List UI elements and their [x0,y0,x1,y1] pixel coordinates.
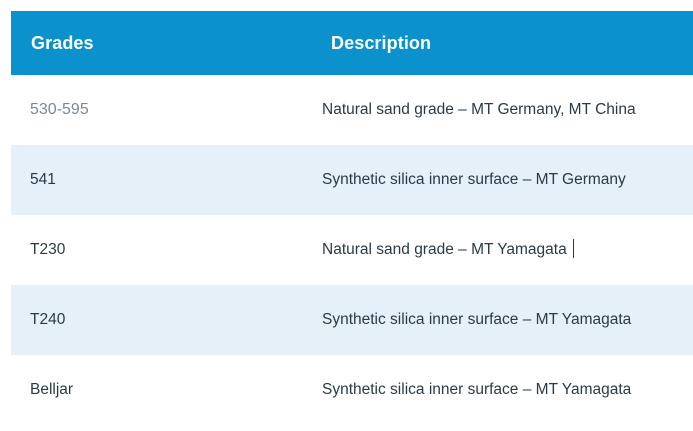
column-header-grades: Grades [11,11,311,75]
cell-grade: Belljar [11,355,311,425]
cell-description-text: Synthetic silica inner surface – MT Yama… [311,380,693,401]
cell-description: Synthetic silica inner surface – MT Germ… [311,145,693,215]
cell-description-value: Synthetic silica inner surface – MT Germ… [322,171,626,188]
column-header-description-label: Description [311,33,693,54]
cell-description-value: Synthetic silica inner surface – MT Yama… [322,311,631,328]
text-cursor-caret[interactable] [573,239,574,258]
table-row: T240Synthetic silica inner surface – MT … [11,285,693,355]
table-header: Grades Description [11,11,693,75]
cell-description: Natural sand grade – MT Yamagata [311,215,693,285]
table-row: 541Synthetic silica inner surface – MT G… [11,145,693,215]
cell-grade: T240 [11,285,311,355]
cell-grade: T230 [11,215,311,285]
column-header-grades-label: Grades [11,33,311,54]
cell-grade-text: 530-595 [11,99,311,121]
table-row: T230Natural sand grade – MT Yamagata [11,215,693,285]
cell-description: Synthetic silica inner surface – MT Yama… [311,355,693,425]
cell-grade: 530-595 [11,75,311,145]
cell-description-text: Synthetic silica inner surface – MT Germ… [311,170,693,191]
cell-description: Synthetic silica inner surface – MT Yama… [311,285,693,355]
cell-description-text: Natural sand grade – MT Germany, MT Chin… [311,100,693,121]
cell-description-text: Natural sand grade – MT Yamagata [311,239,693,261]
column-header-description: Description [311,11,693,75]
grades-table-container: Grades Description 530-595Natural sand g… [0,0,693,431]
table-row: 530-595Natural sand grade – MT Germany, … [11,75,693,145]
table-header-row: Grades Description [11,11,693,75]
cell-description-value: Natural sand grade – MT Yamagata [322,241,567,258]
cell-description-value: Synthetic silica inner surface – MT Yama… [322,381,631,398]
cell-grade-text: T240 [11,310,311,331]
cell-description-value: Natural sand grade – MT Germany, MT Chin… [322,101,636,118]
cell-description-text: Synthetic silica inner surface – MT Yama… [311,310,693,331]
grades-table: Grades Description 530-595Natural sand g… [11,11,693,425]
table-body: 530-595Natural sand grade – MT Germany, … [11,75,693,425]
cell-description: Natural sand grade – MT Germany, MT Chin… [311,75,693,145]
cell-grade-text: 541 [11,170,311,191]
cell-grade-text: Belljar [11,380,311,401]
cell-grade: 541 [11,145,311,215]
cell-grade-text: T230 [11,240,311,261]
table-row: BelljarSynthetic silica inner surface – … [11,355,693,425]
